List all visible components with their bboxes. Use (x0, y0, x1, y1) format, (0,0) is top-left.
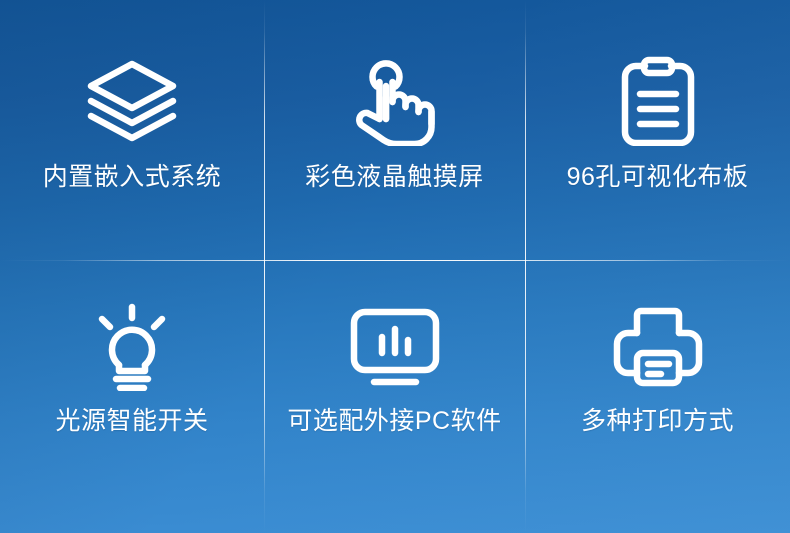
feature-grid: 内置嵌入式系统 (0, 0, 790, 533)
touch-hand-icon (353, 55, 437, 147)
feature-label: 彩色液晶触摸屏 (305, 165, 484, 190)
feature-cell-embedded-system[interactable]: 内置嵌入式系统 (0, 0, 264, 260)
feature-cell-external-pc-software[interactable]: 可选配外接PC软件 (264, 260, 525, 533)
clipboard-icon (619, 55, 697, 147)
feature-label: 光源智能开关 (55, 409, 208, 434)
feature-label: 内置嵌入式系统 (43, 165, 222, 190)
feature-label: 多种打印方式 (581, 409, 734, 434)
feature-cell-light-source-switch[interactable]: 光源智能开关 (0, 260, 264, 533)
feature-label: 96孔可视化布板 (567, 165, 749, 190)
feature-cell-printing-methods[interactable]: 多种打印方式 (525, 260, 790, 533)
feature-cell-96-well-plate[interactable]: 96孔可视化布板 (525, 0, 790, 260)
layers-stack-icon (85, 55, 179, 147)
feature-board: 内置嵌入式系统 (0, 0, 790, 533)
lightbulb-icon (88, 301, 176, 393)
feature-cell-color-lcd-touchscreen[interactable]: 彩色液晶触摸屏 (264, 0, 525, 260)
printer-icon (613, 301, 703, 393)
monitor-chart-icon (349, 301, 441, 393)
feature-label: 可选配外接PC软件 (287, 409, 501, 434)
